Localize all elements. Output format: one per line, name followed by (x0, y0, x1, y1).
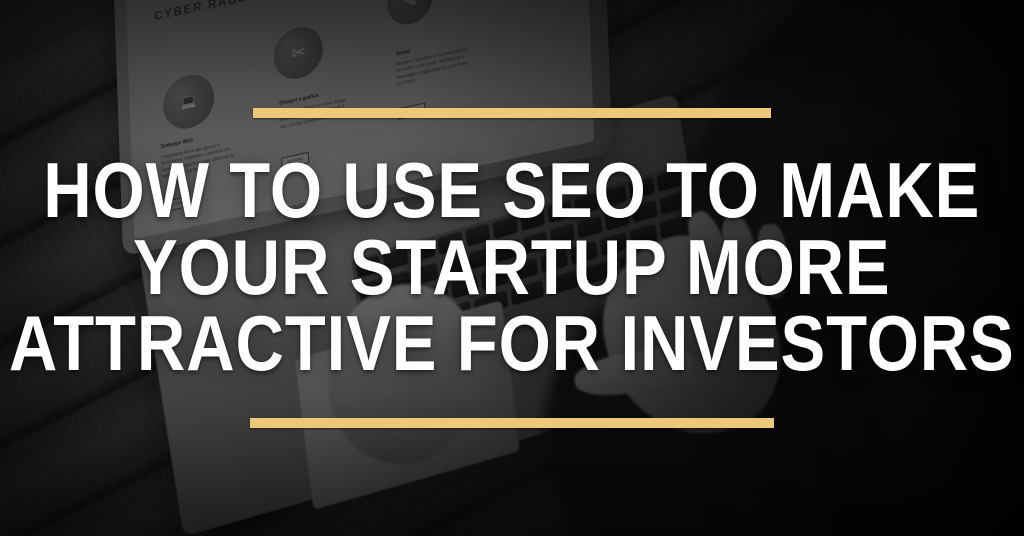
headline-line-1: HOW TO USE SEO TO MAKE (9, 152, 1015, 228)
page-title: HOW TO USE SEO TO MAKE YOUR STARTUP MORE… (9, 152, 1015, 381)
blog-header-banner: File Modifica Vista Cronologia Preferiti… (0, 0, 1024, 536)
headline-line-3: ATTRACTIVE FOR INVESTORS (9, 305, 1015, 381)
title-block: HOW TO USE SEO TO MAKE YOUR STARTUP MORE… (0, 0, 1024, 536)
divider-top (253, 108, 771, 118)
divider-bottom (250, 418, 774, 428)
headline-line-2: YOUR STARTUP MORE (9, 229, 1015, 305)
